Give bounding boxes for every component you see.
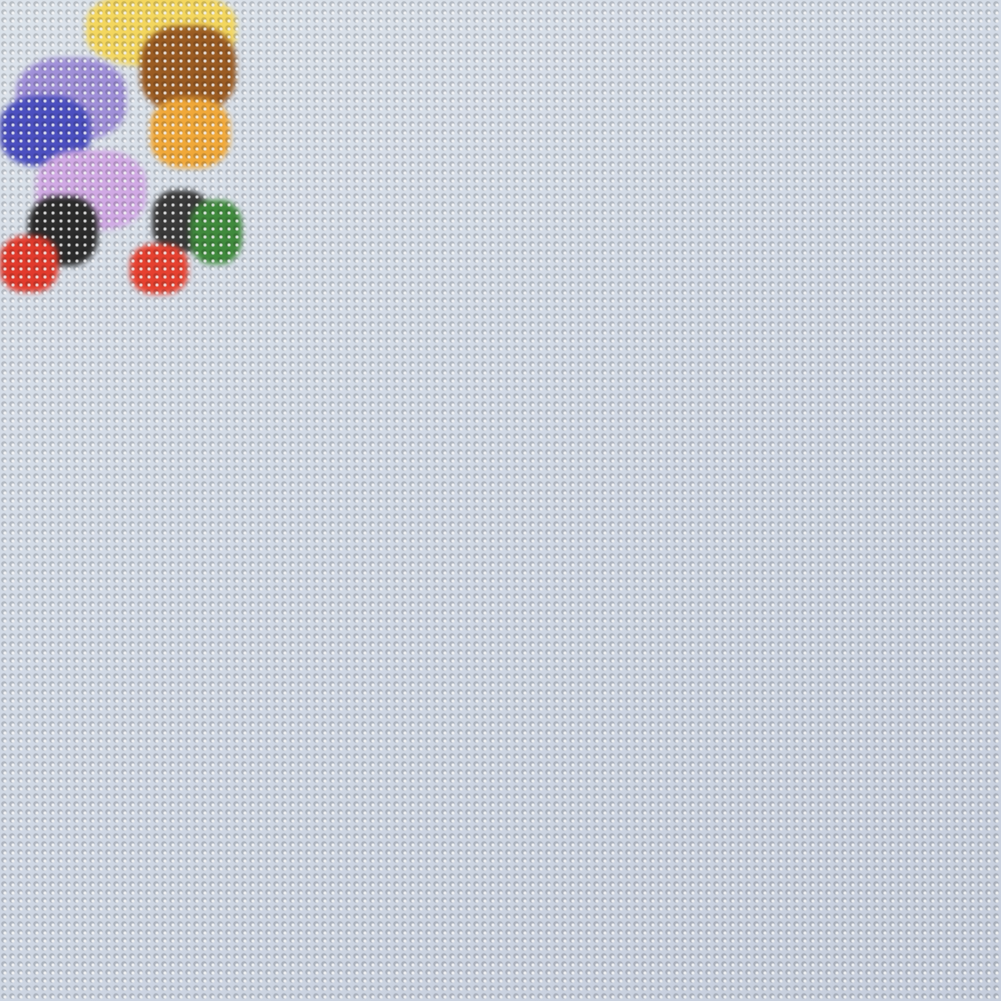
mosaic-colors bbox=[761, 537, 991, 842]
steps-row-2: Step 5 bbox=[10, 537, 991, 934]
step-8-photo bbox=[761, 537, 991, 842]
step-8-card: Step 8 bbox=[761, 537, 991, 842]
step-card-8: Step 8 bbox=[761, 537, 991, 934]
steps-container: Step 1 Ready for the tool Step 2 bbox=[0, 137, 1001, 934]
